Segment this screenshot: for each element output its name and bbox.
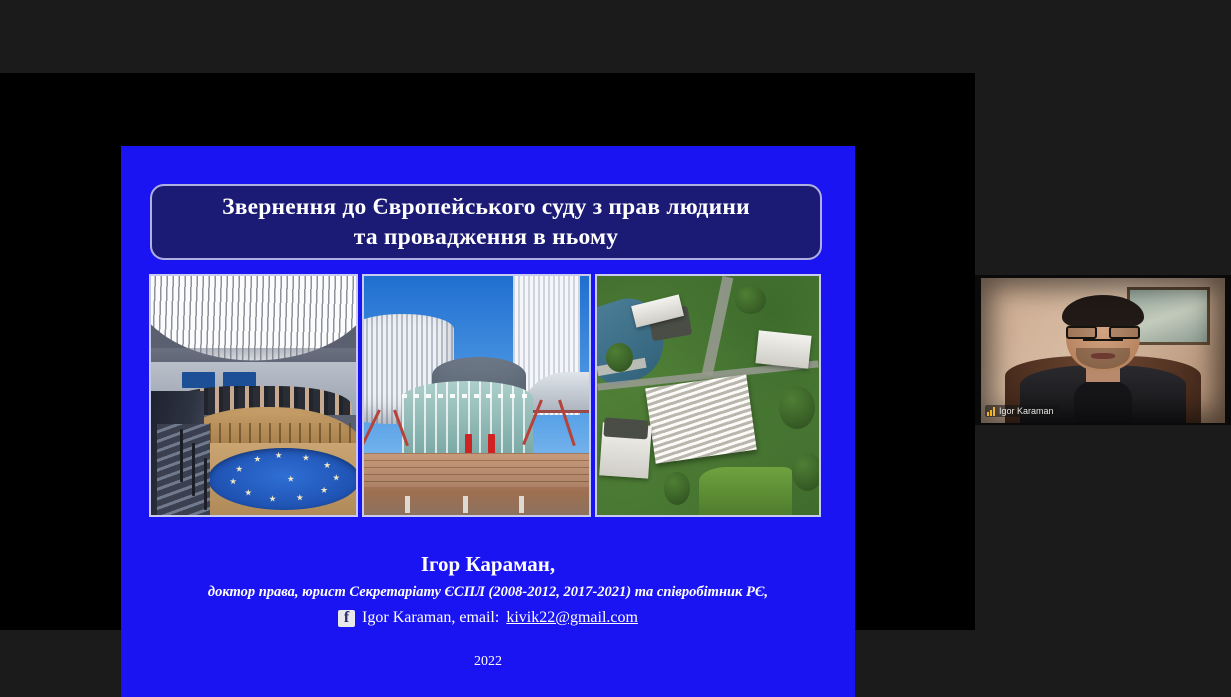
participant-video-tile[interactable]: Igor Karaman [975, 275, 1231, 425]
eyeglasses [1066, 326, 1139, 339]
participant-name-label: Igor Karaman [999, 406, 1054, 416]
participant-video-feed [981, 278, 1225, 423]
presenter-contact-row: Igor Karaman, email: kivik22@gmail.com [121, 608, 855, 628]
slide-year: 2022 [121, 654, 855, 670]
echr-building-exterior-photo [362, 274, 591, 517]
slide-title-box: Звернення до Європейського суду з прав л… [150, 184, 822, 260]
facebook-icon [338, 610, 355, 627]
slide-photo-row [149, 274, 825, 517]
slide-title-line-2: та провадження в ньому [354, 222, 618, 252]
presentation-slide[interactable]: Звернення до Європейського суду з прав л… [121, 146, 855, 697]
council-of-europe-aerial-photo [595, 274, 821, 517]
screen-share-stage[interactable]: Звернення до Європейського суду з прав л… [0, 73, 975, 630]
contact-email-link[interactable]: kivik22@gmail.com [506, 608, 638, 628]
slide-title-line-1: Звернення до Європейського суду з прав л… [222, 192, 750, 222]
contact-name-label: Igor Karaman, email: [362, 608, 499, 628]
meeting-window: Звернення до Європейського суду з прав л… [0, 0, 1231, 696]
participant-nameplate: Igor Karaman [985, 405, 1059, 417]
presenter-name: Ігор Караман, [121, 552, 855, 576]
audio-level-icon [987, 407, 995, 416]
echr-courtroom-photo [149, 274, 358, 517]
presenter-credentials: доктор права, юрист Секретаріату ЄСПЛ (2… [121, 583, 855, 601]
